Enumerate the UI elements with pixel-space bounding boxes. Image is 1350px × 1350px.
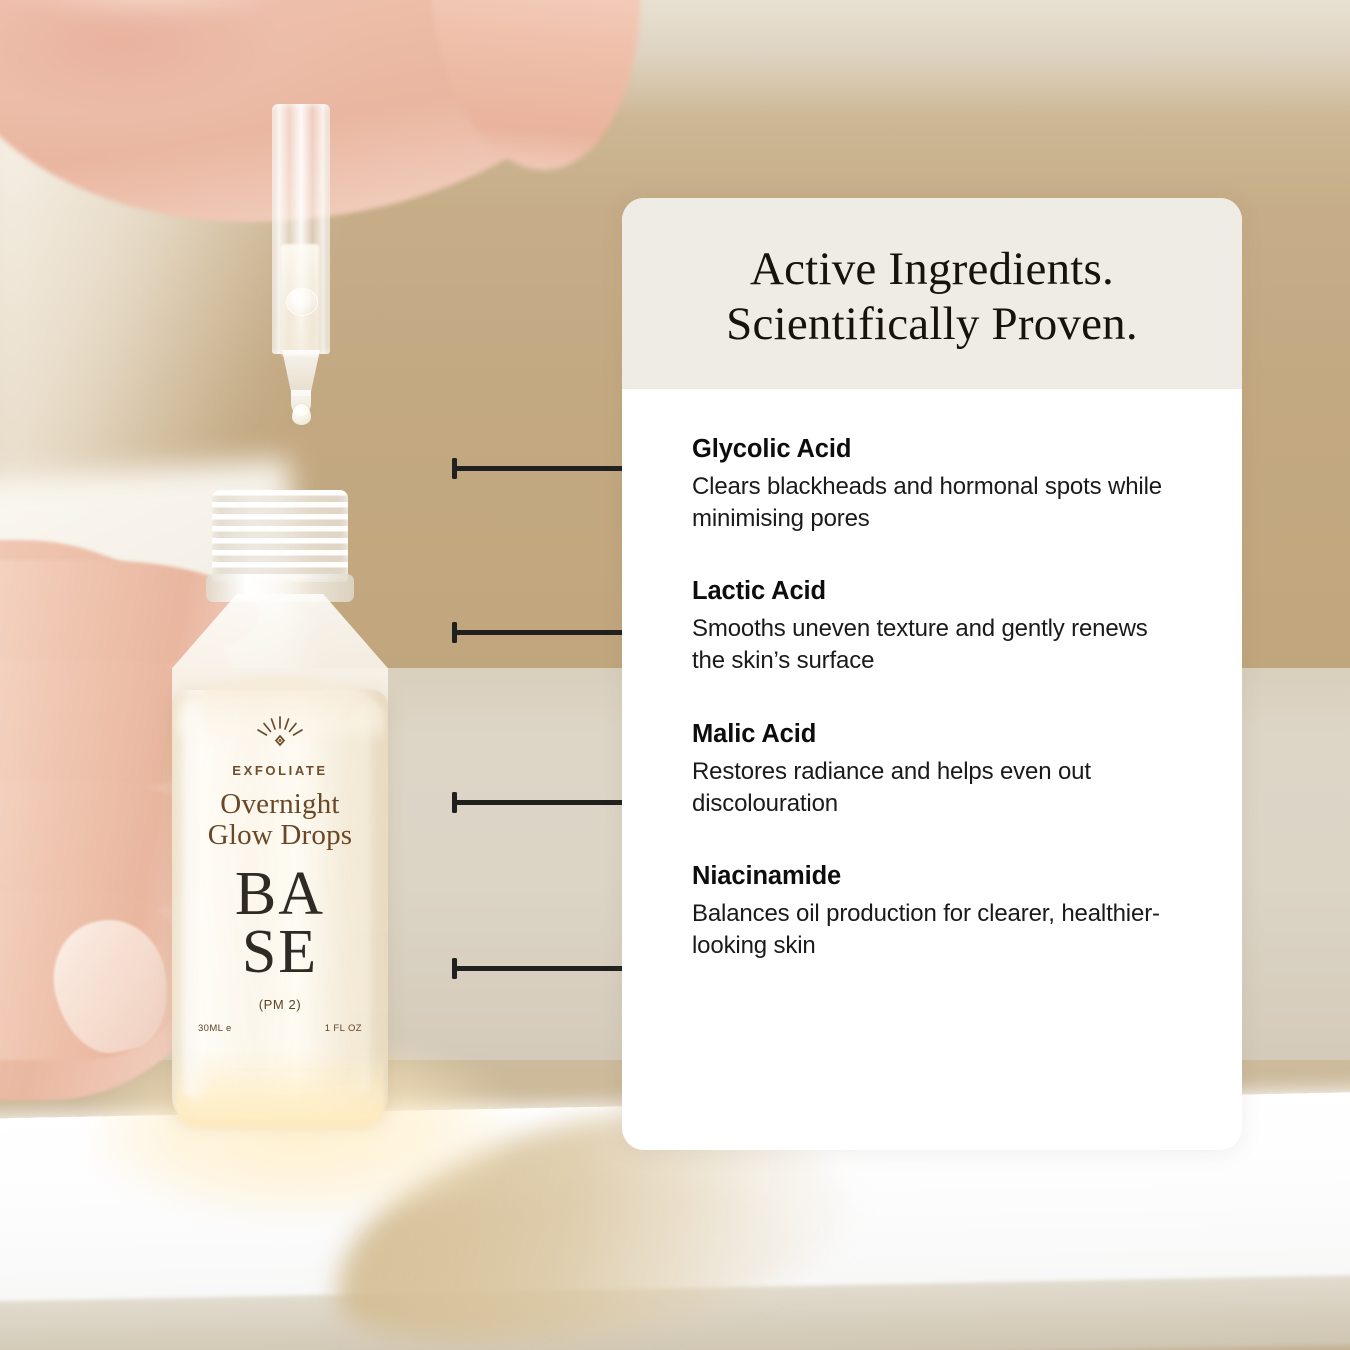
ingredient-name: Lactic Acid — [692, 577, 1196, 606]
glass-pipette-dropper — [272, 104, 330, 414]
ingredient-list: Glycolic Acid Clears blackheads and horm… — [622, 389, 1242, 962]
label-product-name-line1: Overnight — [172, 789, 388, 820]
ingredient-name: Malic Acid — [692, 720, 1196, 749]
sunburst-icon — [253, 715, 307, 749]
ingredient-description: Restores radiance and helps even out dis… — [692, 756, 1167, 820]
label-brand-line1: BA — [172, 866, 388, 923]
product-infographic: EXFOLIATE Overnight Glow Drops BA SE (PM… — [0, 0, 1350, 1350]
label-routine-step: (PM 2) — [172, 997, 388, 1012]
frosted-glass-serum-bottle: EXFOLIATE Overnight Glow Drops BA SE (PM… — [150, 490, 410, 1135]
label-volume-oz: 1 FL OZ — [325, 1023, 362, 1034]
pipette-bubble — [286, 288, 318, 316]
page-title: Active Ingredients. Scientifically Prove… — [662, 242, 1202, 353]
page-title-line1: Active Ingredients. — [750, 243, 1114, 295]
label-volume-ml: 30ML e — [198, 1023, 232, 1034]
ingredient-description: Clears blackheads and hormonal spots whi… — [692, 471, 1167, 535]
list-item: Niacinamide Balances oil production for … — [692, 862, 1196, 962]
list-item: Malic Acid Restores radiance and helps e… — [692, 720, 1196, 820]
label-category: EXFOLIATE — [172, 763, 388, 778]
hand-highlight — [0, 0, 300, 22]
ingredient-name: Glycolic Acid — [692, 435, 1196, 464]
label-product-name: Overnight Glow Drops — [172, 789, 388, 850]
serum-droplet — [292, 404, 311, 425]
ingredient-name: Niacinamide — [692, 862, 1196, 891]
list-item: Glycolic Acid Clears blackheads and horm… — [692, 435, 1196, 535]
label-product-name-line2: Glow Drops — [172, 820, 388, 851]
list-item: Lactic Acid Smooths uneven texture and g… — [692, 577, 1196, 677]
label-brand: BA SE — [172, 866, 388, 980]
label-brand-line2: SE — [172, 924, 388, 981]
label-measures: 30ML e 1 FL OZ — [172, 1023, 388, 1034]
active-ingredients-card: Active Ingredients. Scientifically Prove… — [622, 198, 1242, 1150]
card-header: Active Ingredients. Scientifically Prove… — [622, 198, 1242, 389]
page-title-line2: Scientifically Proven. — [726, 298, 1138, 350]
bottle-neck-threads — [212, 490, 348, 582]
ingredient-description: Balances oil production for clearer, hea… — [692, 898, 1167, 962]
ingredient-description: Smooths uneven texture and gently renews… — [692, 613, 1167, 677]
bottle-label: EXFOLIATE Overnight Glow Drops BA SE (PM… — [172, 715, 388, 1034]
